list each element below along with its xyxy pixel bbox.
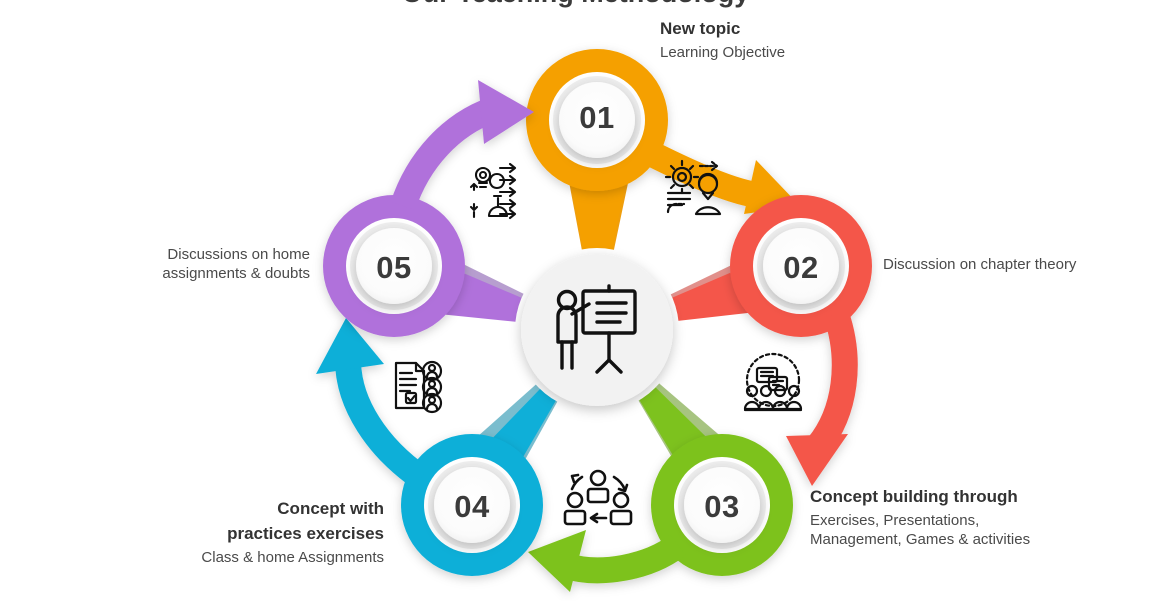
group-discussion-icon — [745, 354, 801, 410]
step-04-title-line2: practices exercises — [104, 523, 384, 545]
step-caption-03: Concept building through Exercises, Pres… — [810, 486, 1110, 549]
step-05-subtitle-line1: Discussions on home — [50, 245, 310, 264]
step-01-title: New topic — [660, 18, 950, 40]
step-03-subtitle-line2: Management, Games & activities — [810, 530, 1110, 549]
step-04-subtitle: Class & home Assignments — [104, 548, 384, 567]
step-number-04: 04 — [424, 489, 520, 525]
step-03-title: Concept building through — [810, 486, 1110, 508]
step-03-subtitle-line1: Exercises, Presentations, — [810, 511, 1110, 530]
methodology-diagram: Our Teaching Methodology — [0, 0, 1151, 601]
step-caption-04: Concept with practices exercises Class &… — [104, 498, 384, 567]
step-caption-05: Discussions on home assignments & doubts — [50, 245, 310, 283]
center-hub[interactable] — [515, 248, 679, 412]
idea-brainstorm-icon — [471, 164, 515, 218]
step-number-01: 01 — [549, 100, 645, 136]
step-01-subtitle: Learning Objective — [660, 43, 950, 62]
step-number-05: 05 — [346, 250, 442, 286]
step-02-subtitle: Discussion on chapter theory — [883, 255, 1143, 274]
team-collaboration-icon — [565, 471, 631, 524]
step-04-title-line1: Concept with — [104, 498, 384, 520]
step-05-subtitle-line2: assignments & doubts — [50, 264, 310, 283]
step-caption-02: Discussion on chapter theory — [883, 255, 1143, 274]
step-number-02: 02 — [753, 250, 849, 286]
step-number-03: 03 — [674, 489, 770, 525]
step-caption-01: New topic Learning Objective — [660, 18, 950, 62]
checklist-people-icon — [396, 362, 441, 412]
